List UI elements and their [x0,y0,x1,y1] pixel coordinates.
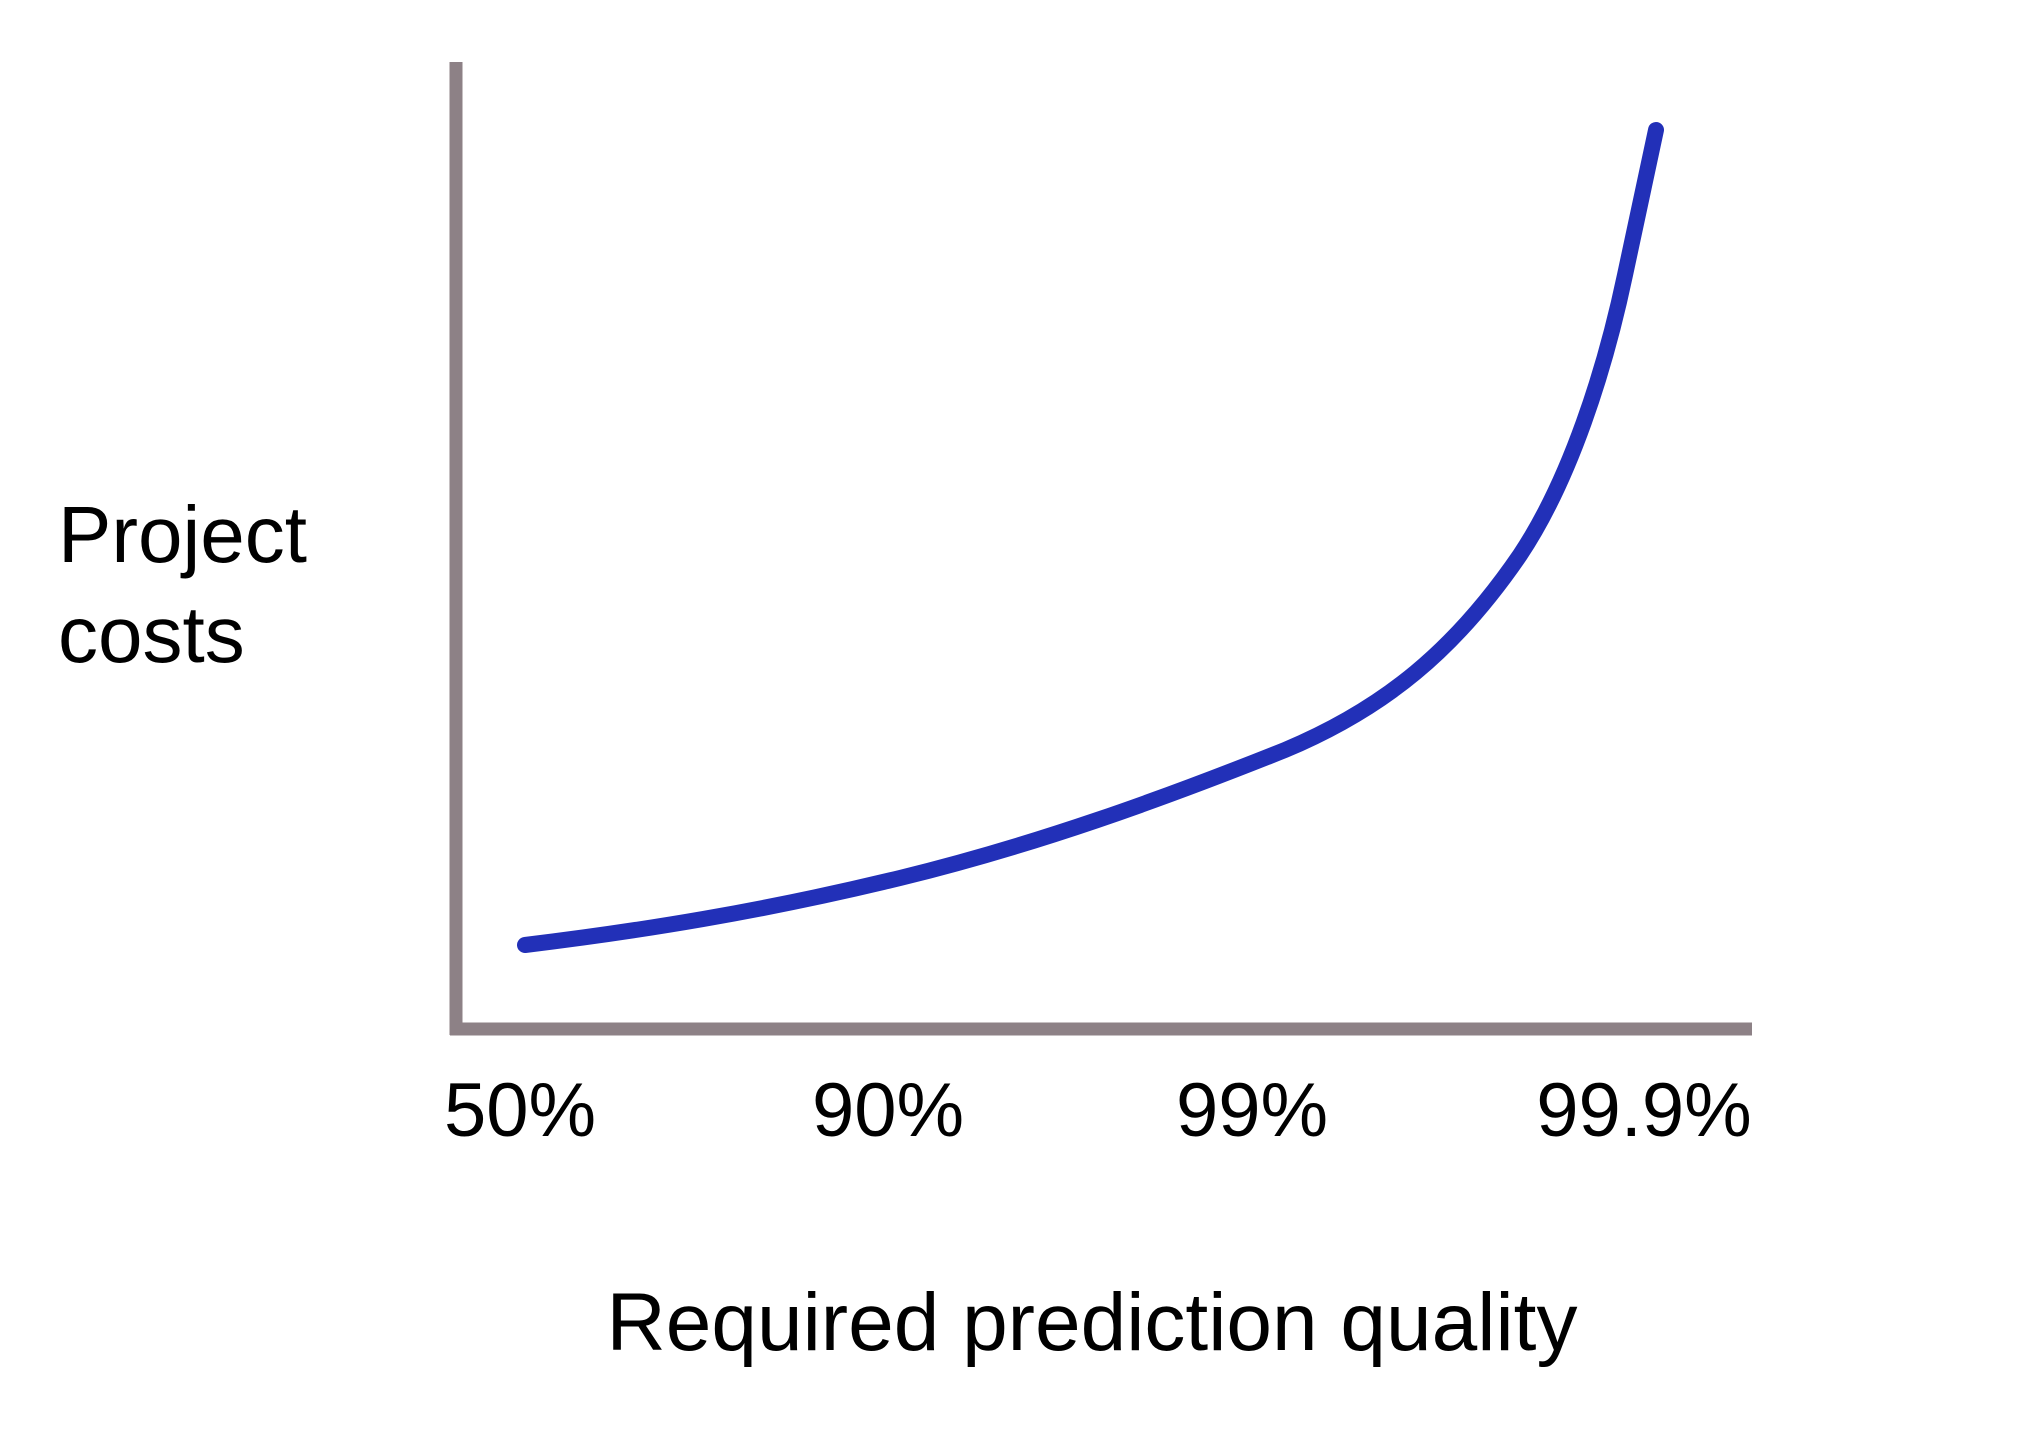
chart-background [0,0,2036,1444]
y-axis-label-line2: costs [58,590,245,679]
y-axis-label-line1: Project [58,490,307,579]
x-tick-label-99: 99% [1176,1068,1328,1153]
project-costs-line-chart: Project costs 50% 90% 99% 99.9% Required… [0,0,2036,1444]
x-tick-label-90: 90% [812,1068,964,1153]
x-axis-title: Required prediction quality [607,1277,1578,1368]
x-tick-label-99-9: 99.9% [1536,1068,1752,1153]
chart-figure: Project costs 50% 90% 99% 99.9% Required… [0,0,2036,1444]
x-tick-label-50: 50% [444,1068,596,1153]
